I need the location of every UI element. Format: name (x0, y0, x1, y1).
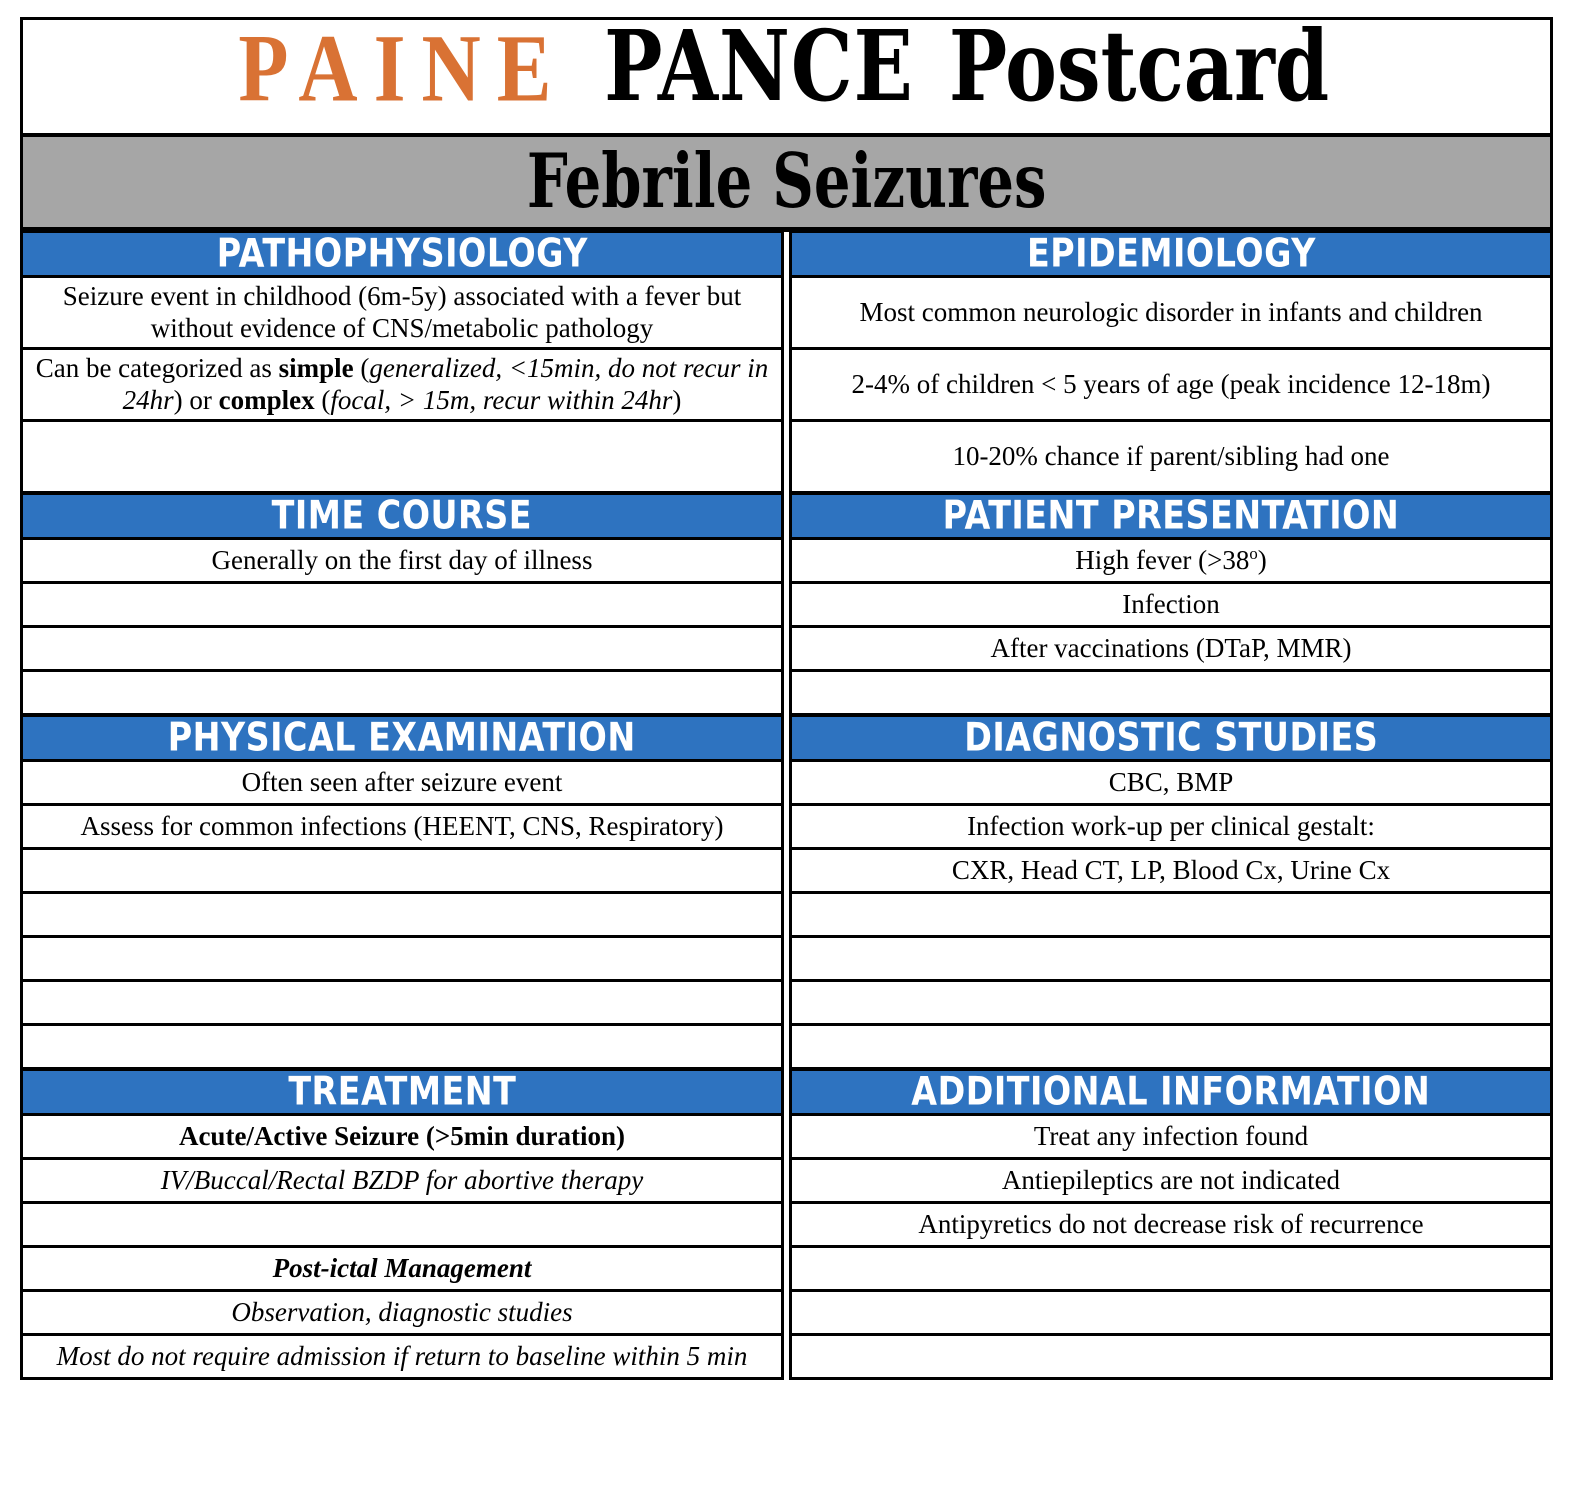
row-text: Antipyretics do not decrease risk of rec… (918, 1209, 1423, 1241)
section-header-patient-presentation: PATIENT PRESENTATION (789, 494, 1553, 540)
row-text: Often seen after seizure event (242, 767, 563, 799)
row-text: CBC, BMP (1109, 767, 1234, 799)
table-row: High fever (>38o) (789, 540, 1553, 584)
table-row: CBC, BMP (789, 762, 1553, 806)
section-header-label: EPIDEMIOLOGY (1027, 231, 1316, 277)
row-text: Assess for common infections (HEENT, CNS… (81, 811, 724, 843)
table-row: Generally on the first day of illness (20, 540, 784, 584)
table-row (20, 584, 784, 628)
table-row: Post-ictal Management (20, 1248, 784, 1292)
table-row: 2-4% of children < 5 years of age (peak … (789, 350, 1553, 422)
section-header-label: ADDITIONAL INFORMATION (912, 1069, 1431, 1115)
column-pathophysiology: PATHOPHYSIOLOGY Seizure event in childho… (20, 232, 784, 494)
table-row (20, 672, 784, 716)
column-physical-examination: PHYSICAL EXAMINATION Often seen after se… (20, 716, 784, 1070)
table-row (789, 1248, 1553, 1292)
column-patient-presentation: PATIENT PRESENTATION High fever (>38o) I… (789, 494, 1553, 716)
table-row: Acute/Active Seizure (>5min duration) (20, 1116, 784, 1160)
row-text: Most do not require admission if return … (57, 1341, 748, 1373)
table-row: Antipyretics do not decrease risk of rec… (789, 1204, 1553, 1248)
row-text: CXR, Head CT, LP, Blood Cx, Urine Cx (952, 855, 1390, 887)
topic-bar: Febrile Seizures (20, 137, 1553, 232)
section-header-label: TREATMENT (288, 1069, 516, 1115)
page-title: Febrile Seizures (527, 138, 1047, 226)
column-diagnostic-studies: DIAGNOSTIC STUDIES CBC, BMP Infection wo… (789, 716, 1553, 1070)
row-text: Can be categorized as simple (generalize… (31, 353, 773, 417)
row-text: Observation, diagnostic studies (231, 1297, 572, 1329)
table-row: Observation, diagnostic studies (20, 1292, 784, 1336)
section-header-label: DIAGNOSTIC STUDIES (964, 715, 1378, 761)
table-row: CXR, Head CT, LP, Blood Cx, Urine Cx (789, 850, 1553, 894)
row-text: 10-20% chance if parent/sibling had one (952, 441, 1389, 473)
table-row (789, 938, 1553, 982)
section-header-label: PATIENT PRESENTATION (943, 493, 1400, 539)
brand-pance-wordmark: PANCE (605, 8, 938, 123)
section-header-label: TIME COURSE (272, 493, 532, 539)
table-row: Infection work-up per clinical gestalt: (789, 806, 1553, 850)
table-row (789, 1292, 1553, 1336)
row-text: Generally on the first day of illness (212, 545, 593, 577)
table-row: Most do not require admission if return … (20, 1336, 784, 1380)
table-row: Seizure event in childhood (6m-5y) assoc… (20, 278, 784, 350)
table-row (20, 850, 784, 894)
row-text: High fever (>38o) (1075, 545, 1267, 577)
row-text: Post-ictal Management (273, 1253, 532, 1285)
block-pathophysiology-epidemiology: PATHOPHYSIOLOGY Seizure event in childho… (20, 232, 1553, 494)
row-text: Antiepileptics are not indicated (1002, 1165, 1340, 1197)
table-row (20, 1026, 784, 1070)
row-text: After vaccinations (DTaP, MMR) (990, 633, 1351, 665)
table-row (20, 628, 784, 672)
table-row (20, 938, 784, 982)
table-row: Assess for common infections (HEENT, CNS… (20, 806, 784, 850)
section-header-pathophysiology: PATHOPHYSIOLOGY (20, 232, 784, 278)
block-treatment-additional: TREATMENT Acute/Active Seizure (>5min du… (20, 1070, 1553, 1380)
section-header-epidemiology: EPIDEMIOLOGY (789, 232, 1553, 278)
table-row: Most common neurologic disorder in infan… (789, 278, 1553, 350)
section-header-treatment: TREATMENT (20, 1070, 784, 1116)
table-row: Often seen after seizure event (20, 762, 784, 806)
table-row (789, 982, 1553, 1026)
section-header-physical-examination: PHYSICAL EXAMINATION (20, 716, 784, 762)
table-row (789, 672, 1553, 716)
table-row: 10-20% chance if parent/sibling had one (789, 422, 1553, 494)
brand-postcard-wordmark: Postcard (948, 8, 1328, 123)
section-header-diagnostic-studies: DIAGNOSTIC STUDIES (789, 716, 1553, 762)
row-text: IV/Buccal/Rectal BZDP for abortive thera… (161, 1165, 643, 1197)
row-text: Acute/Active Seizure (>5min duration) (179, 1121, 625, 1153)
table-row: Treat any infection found (789, 1116, 1553, 1160)
table-row: Infection (789, 584, 1553, 628)
section-header-additional-information: ADDITIONAL INFORMATION (789, 1070, 1553, 1116)
section-header-label: PATHOPHYSIOLOGY (216, 231, 587, 277)
row-text: Infection (1122, 589, 1219, 621)
brand-title-group: PAINE PANCE Postcard (238, 29, 1334, 124)
table-row: IV/Buccal/Rectal BZDP for abortive thera… (20, 1160, 784, 1204)
table-row: Can be categorized as simple (generalize… (20, 350, 784, 422)
table-row (20, 1204, 784, 1248)
column-epidemiology: EPIDEMIOLOGY Most common neurologic diso… (789, 232, 1553, 494)
table-row (789, 894, 1553, 938)
block-timecourse-presentation: TIME COURSE Generally on the first day o… (20, 494, 1553, 716)
table-row (789, 1026, 1553, 1070)
brand-header: PAINE PANCE Postcard (20, 17, 1553, 137)
pance-postcard: PAINE PANCE Postcard Febrile Seizures PA… (20, 17, 1553, 1380)
block-exam-diagnostics: PHYSICAL EXAMINATION Often seen after se… (20, 716, 1553, 1070)
column-treatment: TREATMENT Acute/Active Seizure (>5min du… (20, 1070, 784, 1380)
table-row (20, 422, 784, 494)
table-row (789, 1336, 1553, 1380)
table-row (20, 982, 784, 1026)
section-header-time-course: TIME COURSE (20, 494, 784, 540)
row-text: 2-4% of children < 5 years of age (peak … (852, 369, 1491, 401)
column-time-course: TIME COURSE Generally on the first day o… (20, 494, 784, 716)
table-row: Antiepileptics are not indicated (789, 1160, 1553, 1204)
table-row: After vaccinations (DTaP, MMR) (789, 628, 1553, 672)
row-text: Most common neurologic disorder in infan… (859, 297, 1482, 329)
row-text: Infection work-up per clinical gestalt: (967, 811, 1375, 843)
row-text: Seizure event in childhood (6m-5y) assoc… (31, 281, 773, 345)
brand-paine-wordmark: PAINE (238, 13, 599, 124)
section-header-label: PHYSICAL EXAMINATION (168, 715, 636, 761)
table-row (20, 894, 784, 938)
column-additional-information: ADDITIONAL INFORMATION Treat any infecti… (789, 1070, 1553, 1380)
row-text: Treat any infection found (1034, 1121, 1308, 1153)
